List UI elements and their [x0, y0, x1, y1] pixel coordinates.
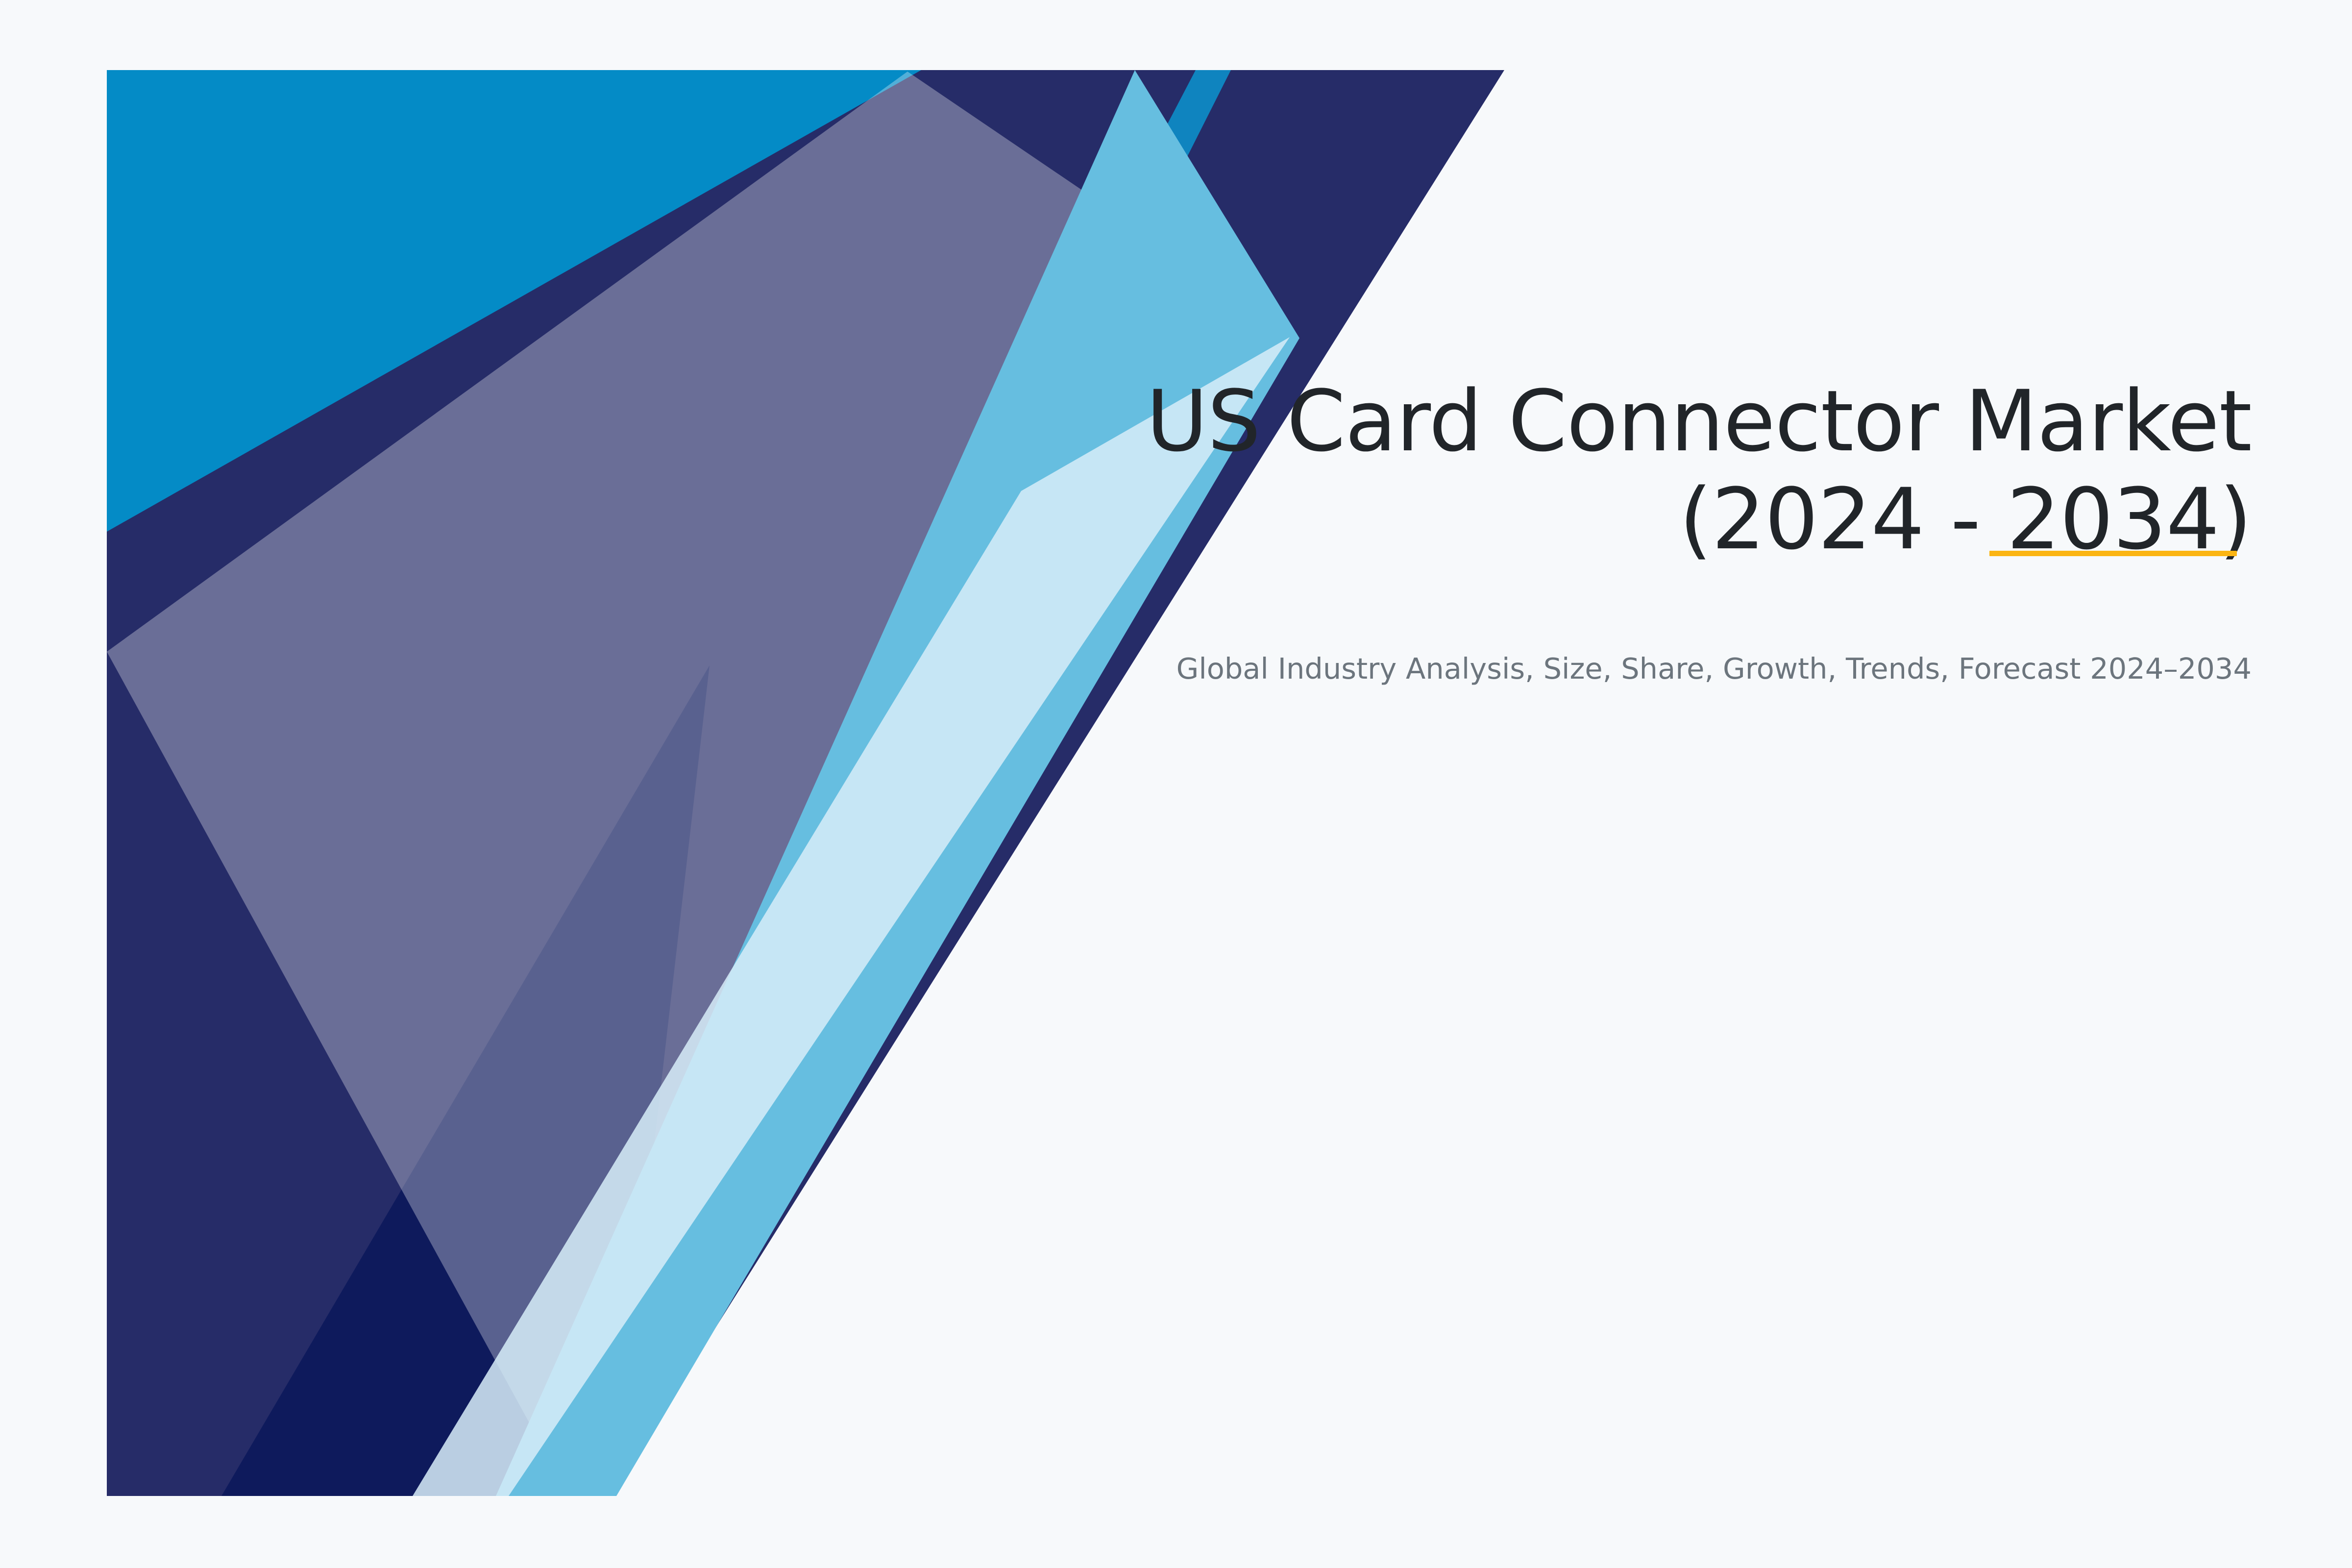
decorative-artwork	[0, 0, 2352, 1568]
title-wrapper: US Card Connector Market (2024 - 2034)	[911, 372, 2252, 568]
navy-base-shape	[107, 70, 1504, 1496]
page-title: US Card Connector Market (2024 - 2034)	[911, 372, 2252, 568]
title-block: US Card Connector Market (2024 - 2034) G…	[911, 372, 2252, 688]
bright-blue-panel-shape	[107, 70, 921, 532]
title-accent-bar	[1989, 551, 2237, 556]
presentation-slide: US Card Connector Market (2024 - 2034) G…	[0, 0, 2352, 1568]
slate-overlay-shape	[107, 72, 1298, 1496]
page-subtitle: Global Industry Analysis, Size, Share, G…	[911, 568, 2252, 688]
deep-navy-wedge-shape	[221, 665, 710, 1496]
sky-blue-band-shape	[496, 70, 1299, 1496]
